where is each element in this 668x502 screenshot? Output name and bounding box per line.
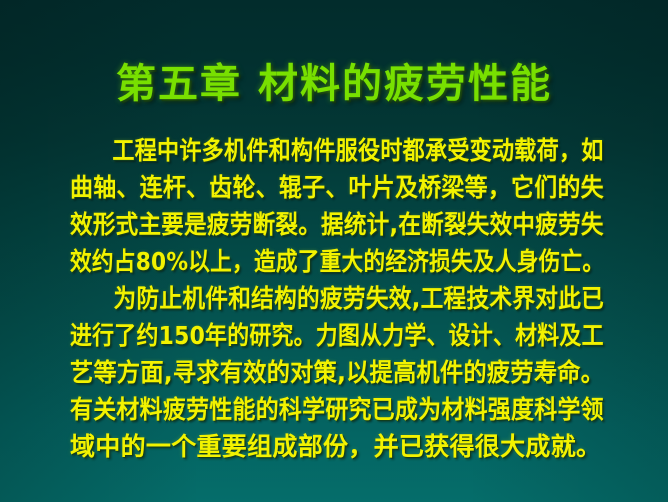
paragraph-2-line-2: 进行了约150年的研究。力图从力学、设计、材料及工 <box>70 317 537 354</box>
paragraph-1-line-1: 工程中许多机件和构件服役时都承受变动载荷，如 <box>70 132 541 169</box>
paragraph-1-line-3: 效形式主要是疲劳断裂。据统计,在断裂失效中疲劳失 <box>70 206 552 243</box>
paragraph-1: 工程中许多机件和构件服役时都承受变动载荷，如 曲轴、连杆、齿轮、辊子、叶片及桥梁… <box>70 132 604 280</box>
paragraph-1-line-2: 曲轴、连杆、齿轮、辊子、叶片及桥梁等，它们的失 <box>70 169 560 206</box>
presentation-slide: 第五章 材料的疲劳性能 工程中许多机件和构件服役时都承受变动载荷，如 曲轴、连杆… <box>0 0 668 502</box>
paragraph-1-line-4: 效约占80%以上，造成了重大的经济损失及人身伤亡。 <box>70 243 532 280</box>
paragraph-2-line-3: 艺等方面,寻求有效的对策,以提高机件的疲劳寿命。 <box>70 354 565 391</box>
paragraph-2: 为防止机件和结构的疲劳失效,工程技术界对此已 进行了约150年的研究。力图从力学… <box>70 280 604 465</box>
paragraph-2-line-1: 为防止机件和结构的疲劳失效,工程技术界对此已 <box>70 280 554 317</box>
paragraph-2-line-5: 域中的一个重要组成部份，并已获得很大成就。 <box>70 428 604 465</box>
slide-body: 工程中许多机件和构件服役时都承受变动载荷，如 曲轴、连杆、齿轮、辊子、叶片及桥梁… <box>70 132 604 465</box>
slide-title: 第五章 材料的疲劳性能 <box>0 62 668 106</box>
paragraph-2-line-4: 有关材料疲劳性能的科学研究已成为材料强度科学领 <box>70 391 560 428</box>
